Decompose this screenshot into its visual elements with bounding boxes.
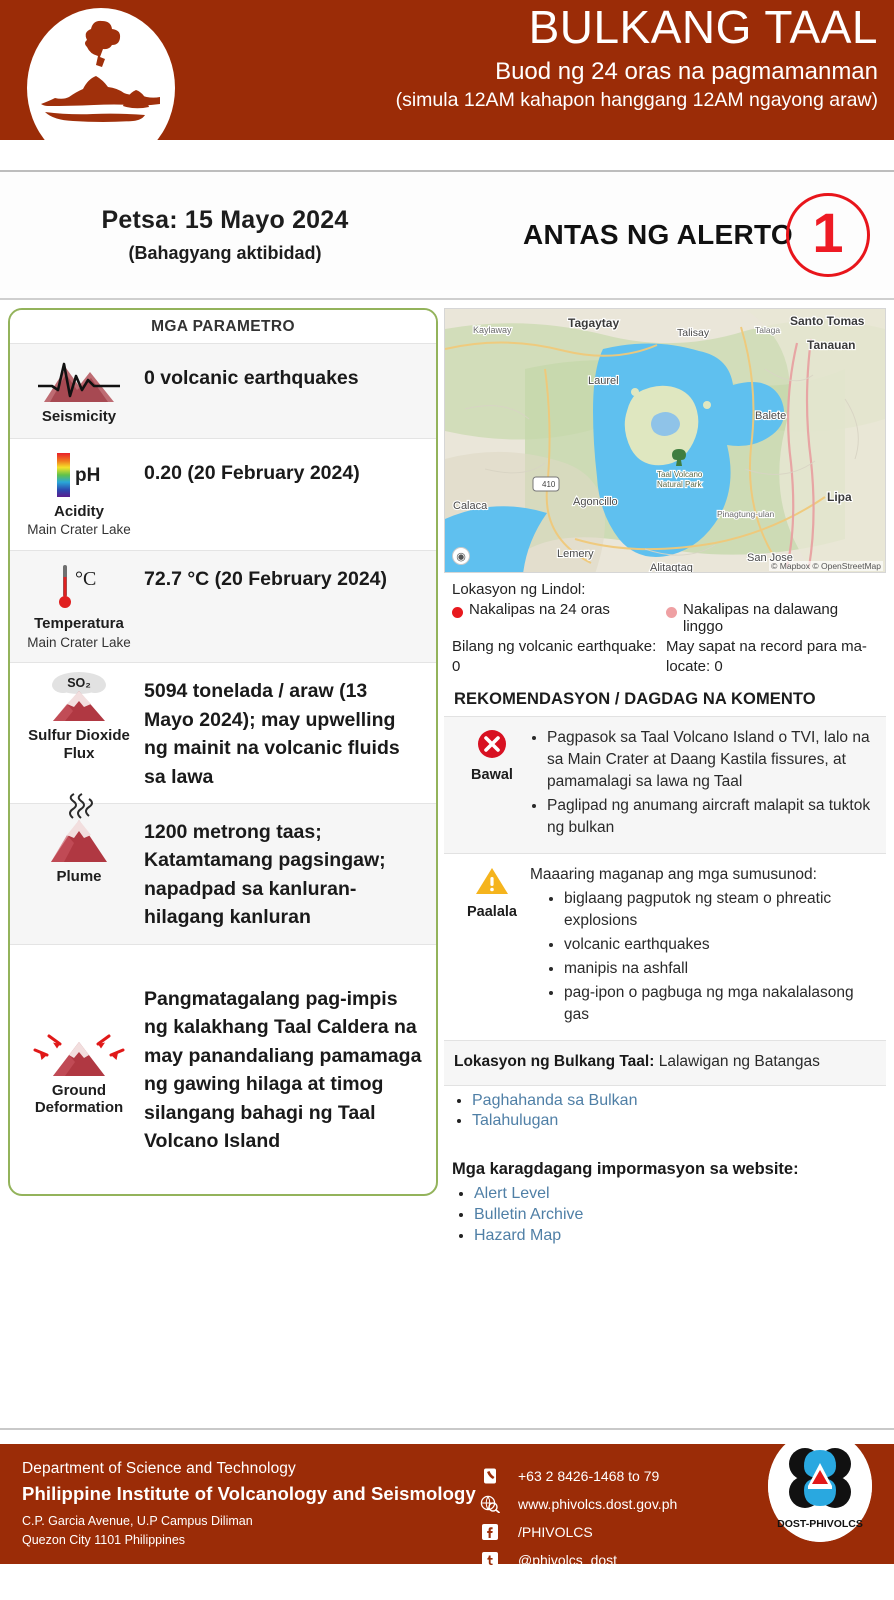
location-value: Lalawigan ng Batangas [659, 1053, 820, 1070]
warning-item: pag-ipon o pagbuga ng mga nakalalasong g… [564, 982, 878, 1026]
parameter-sublabel: Main Crater Lake [14, 522, 144, 538]
svg-text:pH: pH [75, 465, 100, 486]
warning-intro: Maaaring maganap ang mga sumusunod: [530, 864, 878, 886]
warning-item: manipis na ashfall [564, 958, 878, 980]
alert-bar: Petsa: 15 Mayo 2024 (Bahagyang aktibidad… [0, 172, 894, 300]
legend-old-label: Nakalipas na dalawang linggo [683, 601, 880, 635]
footer-contacts: +63 2 8426-1468 to 79 www.phivolcs.dost.… [480, 1464, 677, 1576]
parameter-value: 1200 metrong taas; Katamtamang pagsingaw… [144, 814, 428, 932]
map-label: Agoncillo [573, 496, 618, 508]
footer-address-line-2: Quezon City 1101 Philippines [22, 1531, 894, 1550]
parameter-value: Pangmatagalang pag-impis ng kalakhang Ta… [144, 981, 428, 1156]
parameter-row-plume: Plume 1200 metrong taas; Katamtamang pag… [10, 803, 436, 944]
parameter-name: Seismicity [14, 408, 144, 426]
warning-item: biglaang pagputok ng steam o phreatic ex… [564, 888, 878, 932]
svg-text:°C: °C [75, 568, 96, 590]
header-title-group: BULKANG TAAL Buod ng 24 oras na pagmaman… [198, 2, 878, 113]
legend-key-old: Nakalipas na dalawang linggo [666, 601, 880, 635]
dost-phivolcs-logo-icon: DOST-PHIVOLCS [768, 1430, 872, 1542]
map-label: Laurel [588, 375, 619, 387]
parameter-name: Temperatura [14, 615, 144, 633]
yellow-warning-triangle-icon [475, 866, 509, 896]
map-and-recommendations-column: KaylawayTagaytayTalisayTalagaSanto Tomas… [444, 308, 886, 1428]
map-attribution: © Mapbox © OpenStreetMap [769, 561, 883, 571]
map-label: Kaylaway [473, 325, 512, 335]
legend-key-recent: Nakalipas na 24 oras [452, 601, 666, 635]
so2-volcano-icon: SO₂ [14, 677, 144, 723]
prohibited-label: Bawal [454, 767, 530, 783]
svg-text:SO₂: SO₂ [67, 676, 91, 690]
ph-scale-icon: pH [14, 453, 144, 499]
parameter-name: Acidity [14, 503, 144, 521]
contact-facebook[interactable]: /PHIVOLCS [480, 1520, 677, 1544]
map-label: Talisay [677, 327, 710, 339]
older-quake-dot-icon [666, 607, 677, 618]
prohibited-icon-cell: Bawal [454, 727, 530, 841]
ground-deformation-icon [14, 1024, 144, 1078]
alert-level-badge: 1 [786, 193, 870, 277]
parameter-icon-cell: Plume [14, 814, 144, 886]
contact-twitter-text[interactable]: @phivolcs_dost [518, 1552, 617, 1568]
footer-address: C.P. Garcia Avenue, U.P Campus Diliman Q… [22, 1512, 894, 1550]
volcano-island-logo-icon [27, 8, 175, 168]
recommendations-title: REKOMENDASYON / DAGDAG NA KOMENTO [444, 680, 886, 716]
list-item[interactable]: Paghahanda sa Bulkan [472, 1092, 886, 1110]
parameter-name: Sulfur Dioxide Flux [14, 727, 144, 762]
footer-divider [0, 1428, 894, 1444]
thermometer-icon: °C [14, 565, 144, 611]
map-label: Calaca [453, 500, 488, 512]
legend-title: Lokasyon ng Lindol: [452, 581, 880, 598]
parameters-heading: MGA PARAMETRO [10, 310, 436, 343]
warning-icon-cell: Paalala [454, 864, 530, 1028]
parameter-name: Plume [14, 868, 144, 886]
dost-phivolcs-logo-text: DOST-PHIVOLCS [777, 1518, 863, 1530]
parameter-row-acidity: pH Acidity Main Crater Lake 0.20 (20 Feb… [10, 438, 436, 550]
link-bulletin-archive[interactable]: Bulletin Archive [474, 1206, 583, 1223]
legend-counts: Bilang ng volcanic earthquake: 0 May sap… [452, 637, 880, 676]
link-alert-level[interactable]: Alert Level [474, 1185, 550, 1202]
more-info-link-list: Alert Level Bulletin Archive Hazard Map [444, 1183, 886, 1245]
parameter-row-seismicity: Seismicity 0 volcanic earthquakes [10, 343, 436, 438]
link-paghahanda-sa-bulkan[interactable]: Paghahanda sa Bulkan [472, 1092, 637, 1109]
header-subtitle-1: Buod ng 24 oras na pagmamanman [198, 56, 878, 87]
footer-institute: Philippine Institute of Volcanology and … [22, 1483, 894, 1505]
facebook-icon [480, 1524, 500, 1540]
contact-website-text[interactable]: www.phivolcs.dost.gov.ph [518, 1496, 677, 1512]
prohibited-block: Bawal Pagpasok sa Taal Volcano Island o … [444, 716, 886, 853]
footer-department: Department of Science and Technology [22, 1460, 894, 1478]
parameter-name: Ground Deformation [14, 1082, 144, 1117]
parameter-row-ground-deformation: Ground Deformation Pangmatagalang pag-im… [10, 944, 436, 1194]
contact-phone: +63 2 8426-1468 to 79 [480, 1464, 677, 1488]
prohibited-item: Pagpasok sa Taal Volcano Island o TVI, l… [547, 727, 878, 793]
bulletin-date: Petsa: 15 Mayo 2024 [10, 206, 440, 235]
parameter-row-so2: SO₂ Sulfur Dioxide Flux 5094 tonelada / … [10, 662, 436, 803]
map-label: Alitagtag [650, 562, 693, 573]
list-item[interactable]: Talahulugan [472, 1112, 886, 1130]
plume-volcano-icon [14, 818, 144, 864]
map-label: Santo Tomas [790, 314, 865, 328]
warning-item: volcanic earthquakes [564, 934, 878, 956]
map-label: Tagaytay [568, 316, 619, 330]
legend-recent-label: Nakalipas na 24 oras [469, 601, 610, 618]
date-block: Petsa: 15 Mayo 2024 (Bahagyang aktibidad… [0, 206, 440, 264]
earthquake-location-map[interactable]: KaylawayTagaytayTalisayTalagaSanto Tomas… [444, 308, 886, 573]
alert-level-number: 1 [786, 193, 870, 277]
warning-body: Maaaring maganap ang mga sumusunod: bigl… [530, 864, 878, 1028]
seismograph-mountain-icon [14, 358, 144, 404]
parameters-card: MGA PARAMETRO Seismicity 0 vol [8, 308, 438, 1196]
recent-quake-dot-icon [452, 607, 463, 618]
count-locatable-records: May sapat na record para ma-locate: 0 [666, 637, 880, 676]
preparedness-link-list: Paghahanda sa Bulkan Talahulugan [444, 1086, 886, 1140]
link-hazard-map[interactable]: Hazard Map [474, 1227, 561, 1244]
legend-keys: Nakalipas na 24 oras Nakalipas na dalawa… [452, 601, 880, 635]
earthquake-legend: Lokasyon ng Lindol: Nakalipas na 24 oras… [444, 573, 886, 680]
globe-search-icon [480, 1495, 500, 1513]
contact-facebook-text[interactable]: /PHIVOLCS [518, 1524, 593, 1540]
parameter-value: 0.20 (20 February 2024) [144, 449, 428, 487]
link-talahulugan[interactable]: Talahulugan [472, 1112, 558, 1129]
map-label: Lipa [827, 490, 852, 504]
mapbox-logo-icon[interactable]: ◉ [452, 547, 470, 565]
map-label: Natural Park [657, 480, 702, 489]
list-item[interactable]: Bulletin Archive [474, 1206, 886, 1224]
more-info-title: Mga karagdagang impormasyon sa website: [444, 1140, 886, 1183]
page-title: BULKANG TAAL [198, 2, 878, 54]
contact-phone-text: +63 2 8426-1468 to 79 [518, 1468, 659, 1484]
twitter-icon [480, 1552, 500, 1568]
prohibited-body: Pagpasok sa Taal Volcano Island o TVI, l… [530, 727, 878, 841]
contact-website[interactable]: www.phivolcs.dost.gov.ph [480, 1492, 677, 1516]
count-volcanic-earthquakes: Bilang ng volcanic earthquake: 0 [452, 637, 666, 676]
parameter-value: 0 volcanic earthquakes [144, 354, 428, 392]
red-x-circle-icon [477, 729, 507, 759]
location-label: Lokasyon ng Bulkang Taal: [454, 1053, 654, 1070]
map-label: 410 [542, 480, 556, 489]
parameter-icon-cell: SO₂ Sulfur Dioxide Flux [14, 673, 144, 762]
map-label: Pinagtung-ulan [717, 509, 774, 519]
map-label: Balete [755, 410, 786, 422]
footer-address-line-1: C.P. Garcia Avenue, U.P Campus Diliman [22, 1512, 894, 1531]
contact-twitter[interactable]: @phivolcs_dost [480, 1548, 677, 1572]
parameter-icon-cell: Seismicity [14, 354, 144, 426]
map-label: Taal Volcano [657, 470, 703, 479]
phone-icon [480, 1468, 500, 1484]
parameter-icon-cell: pH Acidity Main Crater Lake [14, 449, 144, 538]
content-columns: MGA PARAMETRO Seismicity 0 vol [0, 300, 894, 1428]
warning-block: Paalala Maaaring maganap ang mga sumusun… [444, 853, 886, 1040]
parameter-icon-cell: °C Temperatura Main Crater Lake [14, 561, 144, 650]
parameter-value: 5094 tonelada / araw (13 Mayo 2024); may… [144, 673, 428, 791]
volcano-location-box: Lokasyon ng Bulkang Taal: Lalawigan ng B… [444, 1040, 886, 1086]
list-item[interactable]: Alert Level [474, 1185, 886, 1203]
map-label: Talaga [755, 325, 780, 335]
bulletin-page: BULKANG TAAL Buod ng 24 oras na pagmaman… [0, 0, 894, 1600]
activity-note: (Bahagyang aktibidad) [10, 243, 440, 264]
warning-label: Paalala [454, 904, 530, 920]
list-item[interactable]: Hazard Map [474, 1227, 886, 1245]
parameter-value: 72.7 °C (20 February 2024) [144, 561, 428, 593]
parameter-sublabel: Main Crater Lake [14, 635, 144, 651]
map-label: Lemery [557, 548, 594, 560]
page-footer: Department of Science and Technology Phi… [0, 1444, 894, 1564]
parameter-row-temperature: °C Temperatura Main Crater Lake 72.7 °C … [10, 550, 436, 662]
parameters-column: MGA PARAMETRO Seismicity 0 vol [8, 308, 438, 1428]
prohibited-item: Paglipad ng anumang aircraft malapit sa … [547, 795, 878, 839]
parameter-icon-cell: Ground Deformation [14, 1020, 144, 1117]
header-subtitle-2: (simula 12AM kahapon hanggang 12AM ngayo… [198, 88, 878, 113]
map-label: Tanauan [807, 338, 855, 352]
map-labels: KaylawayTagaytayTalisayTalagaSanto Tomas… [445, 309, 885, 573]
